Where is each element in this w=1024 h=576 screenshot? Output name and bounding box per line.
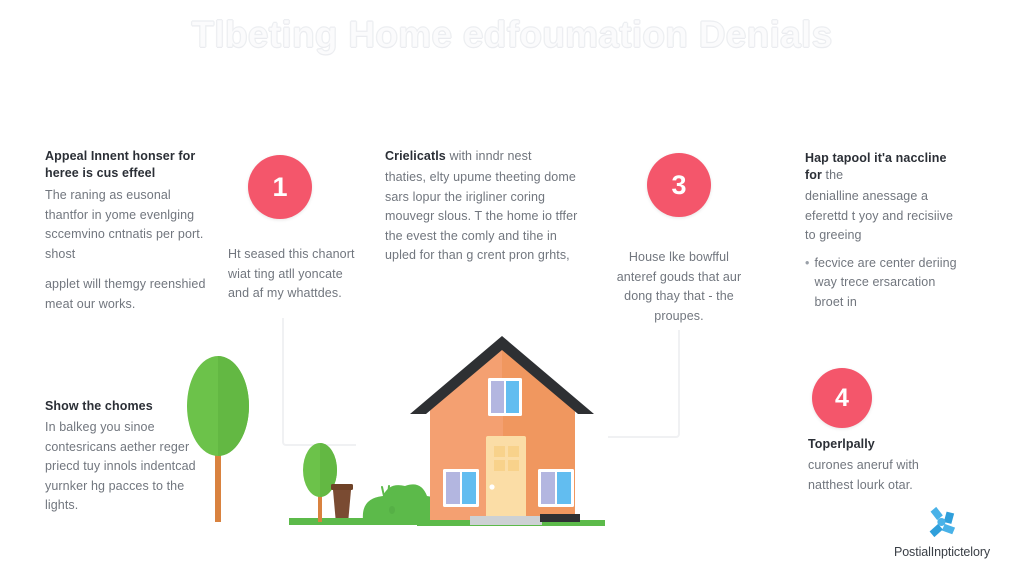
tree-trunk [215, 450, 221, 522]
bush-illustration [363, 484, 441, 520]
col5-heading: Hap tapool it'a naccline for the [805, 150, 965, 184]
col2-paragraph: Ht seased this chanort wiat ting atll yo… [228, 245, 360, 304]
col5-paragraph: denialline anessage a eferettd t yoy and… [805, 187, 965, 246]
bullet-point-icon: • [805, 254, 809, 313]
footer-branding: PostialInptictelory [868, 505, 1016, 559]
text-block-col4: House lke bowfful anteref gouds that aur… [608, 248, 750, 326]
flower-pot-illustration [331, 484, 353, 518]
text-block-col1: Appeal Innent honser for heree is cus ef… [45, 148, 213, 314]
col3-heading-bold: Crielicatls [385, 149, 446, 163]
window-left [443, 469, 479, 507]
col1-heading: Appeal Innent honser for heree is cus ef… [45, 148, 213, 182]
house-foundation-dark [540, 514, 580, 522]
pinwheel-logo-icon [923, 505, 961, 539]
col3-heading: Crielicatls with inndr nest [385, 148, 581, 165]
infographic-canvas: Tlbeting Home edfoumation Denials Appeal… [0, 0, 1024, 576]
step-number-1[interactable]: 1 [248, 155, 312, 219]
house-step [470, 516, 542, 525]
house-illustration [410, 336, 594, 525]
col5-heading-rest: the [826, 168, 844, 182]
bush-detail-dot [389, 506, 395, 514]
col3-heading-rest: with inndr nest [449, 149, 531, 163]
door-knob [489, 484, 494, 489]
bush-body [363, 484, 441, 520]
step-number-3[interactable]: 3 [647, 153, 711, 217]
front-door[interactable] [486, 436, 526, 518]
col5-bullet-item: • fecvice are center deriing way trece e… [805, 254, 965, 313]
tree-canopy-shade [218, 356, 249, 456]
page-title: Tlbeting Home edfoumation Denials [0, 14, 1024, 56]
step-number-3-label: 3 [671, 170, 686, 201]
text-block-col5: Hap tapool it'a naccline for the deniall… [805, 150, 965, 312]
tree-illustration [187, 356, 249, 522]
footer-brand-name: PostialInptictelory [868, 545, 1016, 559]
col1-paragraph-1: The raning as eusonal thantfor in yome e… [45, 186, 213, 264]
pot-body [333, 490, 351, 518]
step-number-1-label: 1 [272, 172, 287, 203]
text-block-col2: Ht seased this chanort wiat ting atll yo… [228, 245, 360, 304]
small-tree-illustration [303, 443, 337, 522]
window-right [538, 469, 574, 507]
col4-paragraph: House lke bowfful anteref gouds that aur… [608, 248, 750, 326]
col5-bullet-text: fecvice are center deriing way trece ers… [814, 254, 965, 313]
pot-rim [331, 484, 353, 490]
text-block-col3: Crielicatls with inndr nest thaties, elt… [385, 148, 581, 266]
col3-paragraph: thaties, elty upume theeting dome sars l… [385, 168, 581, 266]
attic-window [488, 378, 522, 416]
col1-paragraph-2: applet will themgy reenshied meat our wo… [45, 275, 213, 314]
